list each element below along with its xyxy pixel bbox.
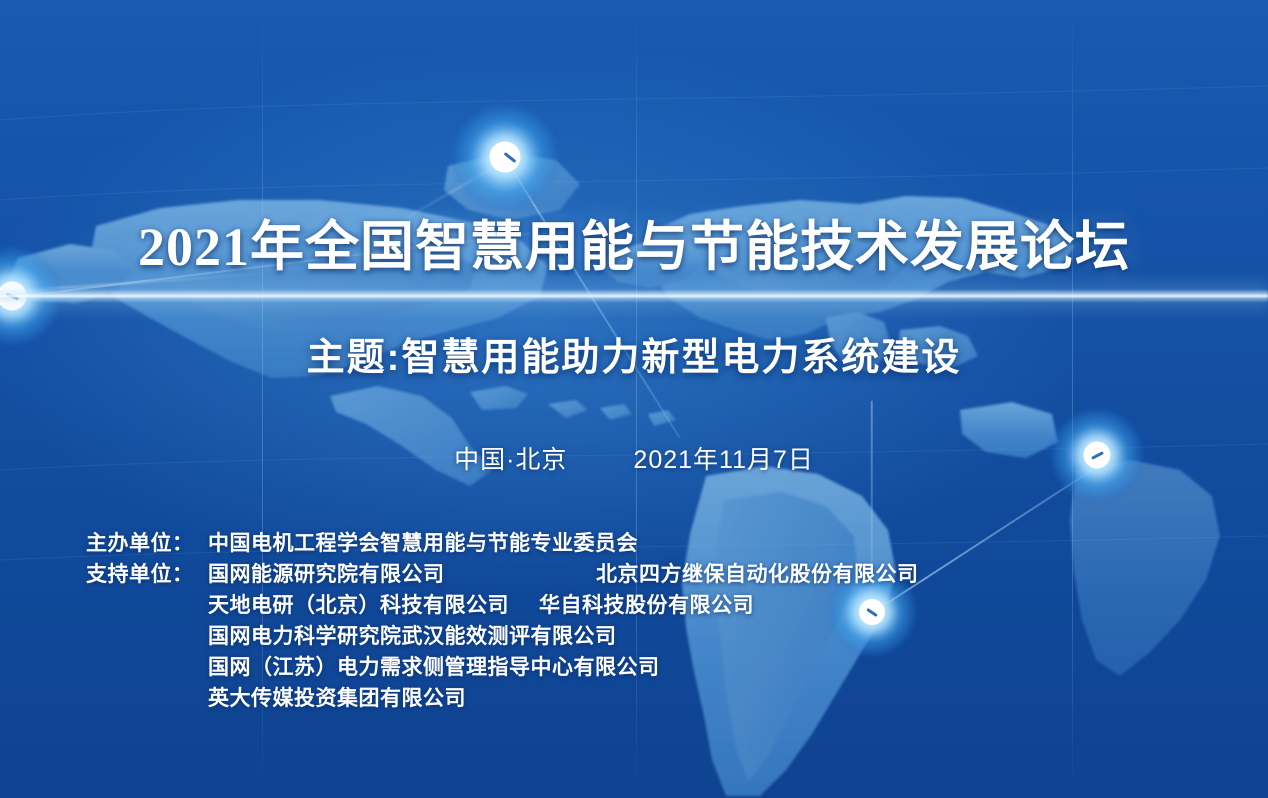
event-date: 2021年11月7日 xyxy=(633,446,813,474)
organizer-block: 主办单位： 中国电机工程学会智慧用能与节能专业委员会 支持单位： 国网能源研究院… xyxy=(86,528,919,714)
supporter-row: 英大传媒投资集团有限公司 xyxy=(86,683,919,714)
supporter-values: 英大传媒投资集团有限公司 xyxy=(208,683,466,714)
supporter-name: 华自科技股份有限公司 xyxy=(539,590,754,621)
supporter-values: 国网（江苏）电力需求侧管理指导中心有限公司 xyxy=(208,652,660,683)
page-title: 2021年全国智慧用能与节能技术发展论坛 xyxy=(0,202,1268,281)
event-location: 中国·北京 xyxy=(454,446,567,474)
organizer-values: 中国电机工程学会智慧用能与节能专业委员会 xyxy=(208,528,638,559)
supporter-name: 天地电研（北京）科技有限公司 xyxy=(208,590,509,621)
supporter-name: 国网能源研究院有限公司 xyxy=(208,559,596,590)
map-meridian-line xyxy=(1072,0,1073,798)
supporter-row: 天地电研（北京）科技有限公司 华自科技股份有限公司 xyxy=(86,590,919,621)
supporter-name: 英大传媒投资集团有限公司 xyxy=(208,683,466,714)
supporter-values: 国网电力科学研究院武汉能效测评有限公司 xyxy=(208,621,617,652)
node-core xyxy=(490,142,521,173)
supporter-name: 国网（江苏）电力需求侧管理指导中心有限公司 xyxy=(208,652,660,683)
supporter-values: 国网能源研究院有限公司 北京四方继保自动化股份有限公司 xyxy=(208,559,919,590)
organizer-row: 主办单位： 中国电机工程学会智慧用能与节能专业委员会 xyxy=(86,528,919,559)
organizer-name: 中国电机工程学会智慧用能与节能专业委员会 xyxy=(208,528,638,559)
supporter-values: 天地电研（北京）科技有限公司 华自科技股份有限公司 xyxy=(208,590,754,621)
poster-subtitle: 主题:智慧用能助力新型电力系统建设 xyxy=(0,326,1268,381)
supporter-label: 支持单位： xyxy=(86,559,208,590)
supporter-name: 北京四方继保自动化股份有限公司 xyxy=(596,559,919,590)
supporter-row: 国网电力科学研究院武汉能效测评有限公司 xyxy=(86,621,919,652)
event-meta: 中国·北京2021年11月7日 xyxy=(0,440,1268,476)
horizontal-light-beam xyxy=(0,289,1268,303)
conference-poster: 2021年全国智慧用能与节能技术发展论坛 主题:智慧用能助力新型电力系统建设 中… xyxy=(0,0,1268,798)
supporter-row: 支持单位： 国网能源研究院有限公司 北京四方继保自动化股份有限公司 xyxy=(86,559,919,590)
supporter-row: 国网（江苏）电力需求侧管理指导中心有限公司 xyxy=(86,652,919,683)
organizer-label: 主办单位： xyxy=(86,528,208,559)
supporter-name: 国网电力科学研究院武汉能效测评有限公司 xyxy=(208,621,617,652)
